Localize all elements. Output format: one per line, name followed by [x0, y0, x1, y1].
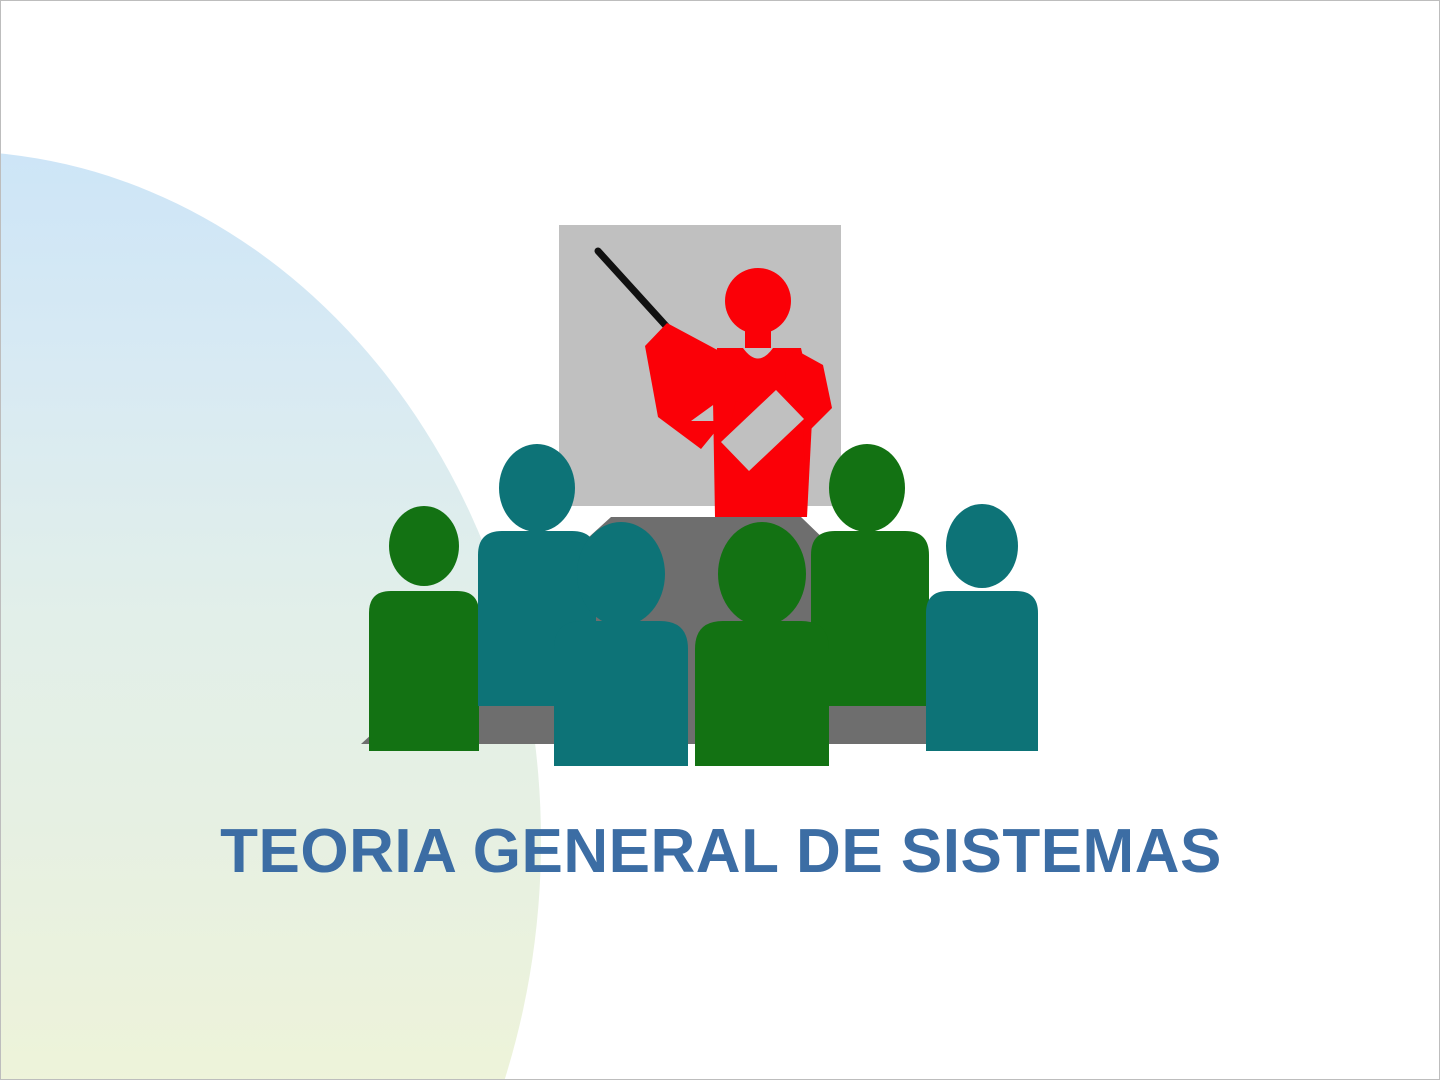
- audience-back-right-teal: [926, 504, 1038, 751]
- page-title: TEORIA GENERAL DE SISTEMAS: [1, 819, 1440, 884]
- audience-body: [369, 591, 479, 751]
- presenter-neck: [745, 326, 771, 348]
- audience-head: [389, 506, 459, 586]
- audience-body: [554, 621, 688, 766]
- audience-back-left-green: [369, 506, 479, 751]
- audience-head: [577, 522, 665, 626]
- audience-head: [718, 522, 806, 626]
- audience-body: [695, 621, 829, 766]
- presenter-head: [725, 268, 791, 334]
- audience-head: [829, 444, 905, 532]
- audience-head: [499, 444, 575, 532]
- audience-head: [946, 504, 1018, 588]
- classroom-illustration: [1, 1, 1440, 1080]
- audience-body: [926, 591, 1038, 751]
- slide-canvas: TEORIA GENERAL DE SISTEMAS: [0, 0, 1440, 1080]
